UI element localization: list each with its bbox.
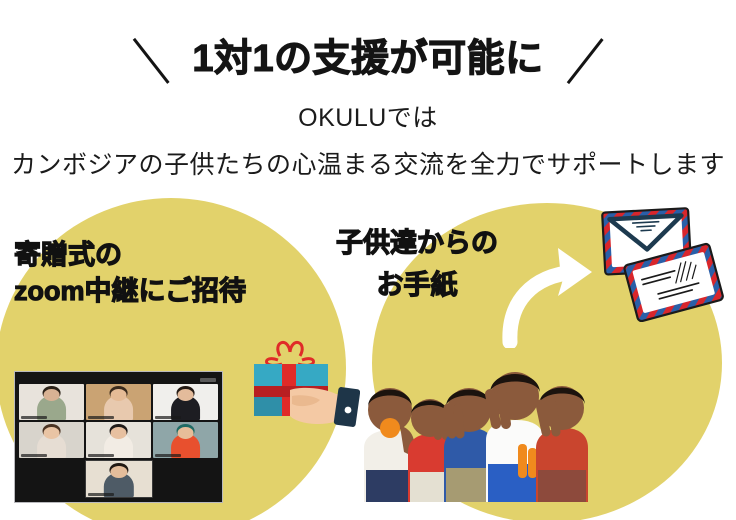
subtitle-line-2: カンボジアの子供たちの心温まる交流を全力でサポートします bbox=[0, 149, 736, 183]
subtitle-line-1: OKULUでは bbox=[0, 102, 736, 136]
children-illustration bbox=[360, 352, 590, 502]
zoom-call-screenshot bbox=[14, 371, 223, 503]
arrow-svg bbox=[488, 238, 608, 348]
participant-head bbox=[43, 427, 60, 439]
right-caption-line-1: 子供達からの bbox=[336, 228, 498, 258]
zoom-participant-tile[interactable] bbox=[153, 384, 218, 420]
curved-arrow-up-right-icon bbox=[488, 238, 608, 348]
zoom-participant-tile[interactable] bbox=[19, 384, 84, 420]
left-caption-line-2: zoom中継にご招待 bbox=[14, 274, 246, 310]
participant-name-label bbox=[155, 416, 181, 419]
slash-decoration-right-icon bbox=[562, 29, 608, 89]
subtitle-block: OKULUでは カンボジアの子供たちの心温まる交流を全力でサポートします bbox=[0, 102, 736, 183]
child-4 bbox=[486, 372, 544, 502]
zoom-grid-row-1 bbox=[19, 384, 218, 420]
zoom-grid-row-2 bbox=[19, 422, 218, 458]
child-5 bbox=[536, 386, 588, 502]
zoom-participant-tile[interactable] bbox=[85, 460, 153, 498]
zoom-participant-tile[interactable] bbox=[153, 422, 218, 458]
zoom-grid-row-3 bbox=[19, 460, 218, 498]
participant-name-label bbox=[21, 416, 47, 419]
gift-in-hand-illustration bbox=[232, 330, 360, 430]
envelope-icons bbox=[594, 202, 724, 322]
participant-name-label bbox=[88, 493, 114, 496]
participant-head bbox=[110, 389, 127, 401]
participant-name-label bbox=[88, 416, 114, 419]
left-panel-caption: 寄贈式の zoom中継にご招待 bbox=[14, 238, 246, 309]
slash-decoration-left-icon bbox=[128, 29, 174, 89]
zoom-participant-tile[interactable] bbox=[86, 384, 151, 420]
headline-row: 1対1の支援が可能に bbox=[0, 26, 736, 92]
zoom-participant-tile[interactable] bbox=[86, 422, 151, 458]
participant-name-label bbox=[155, 454, 181, 457]
participant-head bbox=[110, 427, 127, 439]
participant-head bbox=[177, 427, 194, 439]
cambodian-children-photo bbox=[360, 352, 590, 502]
left-caption-line-1: 寄贈式の bbox=[14, 238, 246, 274]
zoom-view-chip bbox=[200, 378, 216, 382]
gift-icon bbox=[232, 330, 360, 430]
zoom-participant-tile[interactable] bbox=[19, 422, 84, 458]
participant-name-label bbox=[21, 454, 47, 457]
right-caption-line-2: お手紙 bbox=[336, 268, 498, 304]
zoom-toolbar bbox=[19, 377, 218, 382]
airmail-letters-illustration bbox=[594, 202, 724, 322]
participant-name-label bbox=[88, 454, 114, 457]
participant-head bbox=[177, 389, 194, 401]
participant-head bbox=[43, 389, 60, 401]
page-title: 1対1の支援が可能に bbox=[192, 40, 543, 78]
right-panel-caption: 子供達からの お手紙 bbox=[336, 226, 498, 303]
poster-canvas: 1対1の支援が可能に OKULUでは カンボジアの子供たちの心温まる交流を全力で… bbox=[0, 0, 736, 520]
